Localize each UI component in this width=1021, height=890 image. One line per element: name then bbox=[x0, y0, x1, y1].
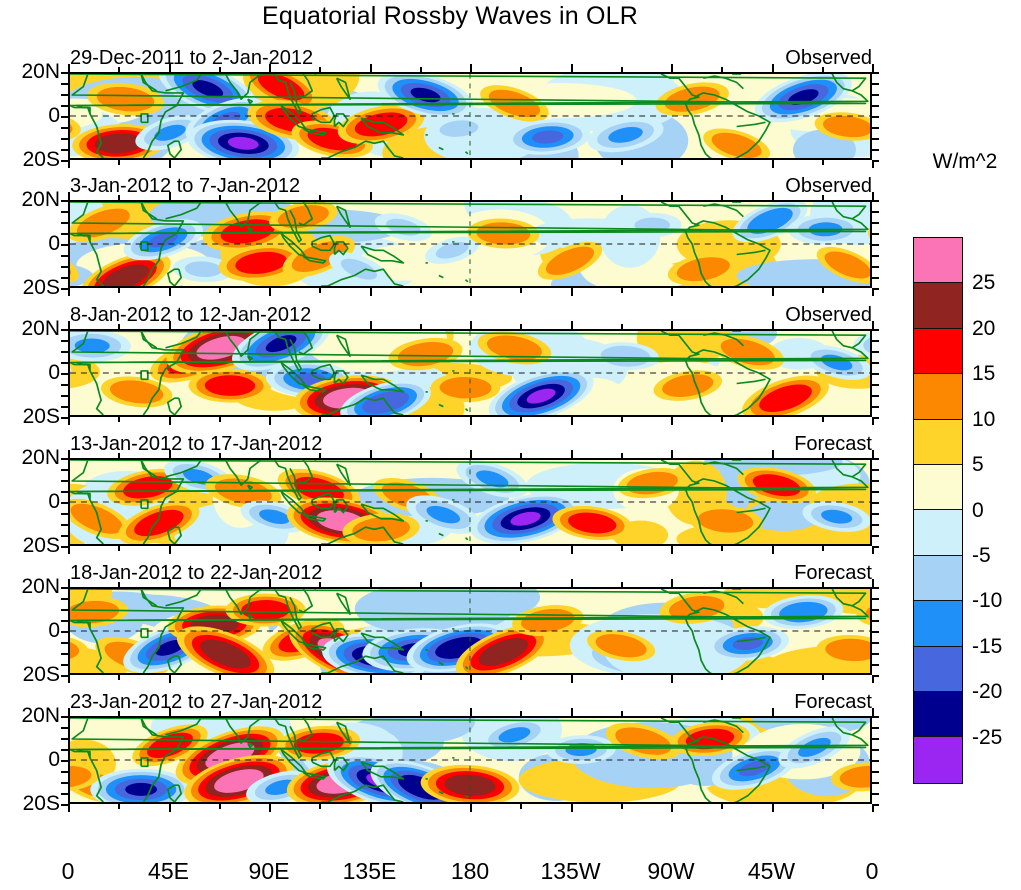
x-tick bbox=[520, 288, 522, 293]
x-tick bbox=[470, 288, 472, 296]
x-tick bbox=[772, 579, 774, 587]
x-tick bbox=[772, 321, 774, 329]
ylabel-eq: 0 bbox=[0, 620, 60, 641]
ylabel-eq: 0 bbox=[0, 362, 60, 383]
ylabel-20s: 20S bbox=[0, 793, 60, 814]
y-tick bbox=[61, 458, 68, 460]
x-tick bbox=[822, 324, 824, 329]
y-tick bbox=[872, 72, 879, 74]
x-tick bbox=[420, 804, 422, 809]
colorbar-tick-label: 10 bbox=[972, 408, 995, 432]
y-tick bbox=[872, 83, 879, 85]
x-tick bbox=[872, 804, 874, 812]
x-tick bbox=[420, 711, 422, 716]
x-tick bbox=[520, 324, 522, 329]
x-tick-label: 180 bbox=[430, 858, 510, 885]
ylabel-20n: 20N bbox=[0, 705, 60, 726]
x-tick bbox=[420, 582, 422, 587]
x-tick bbox=[721, 711, 723, 716]
y-tick bbox=[872, 277, 879, 279]
x-tick bbox=[470, 321, 472, 329]
y-tick bbox=[61, 138, 68, 140]
x-tick bbox=[169, 321, 171, 329]
x-tick-label: 0 bbox=[28, 858, 108, 885]
x-tick bbox=[772, 708, 774, 716]
x-tick bbox=[269, 417, 271, 425]
x-tick bbox=[671, 417, 673, 425]
y-tick bbox=[61, 244, 68, 246]
x-tick bbox=[219, 324, 221, 329]
x-tick bbox=[219, 711, 221, 716]
x-tick bbox=[370, 804, 372, 812]
ylabel-20s: 20S bbox=[0, 535, 60, 556]
x-tick bbox=[68, 417, 70, 425]
ylabel-eq: 0 bbox=[0, 749, 60, 770]
x-tick bbox=[370, 417, 372, 425]
x-tick bbox=[822, 195, 824, 200]
y-tick bbox=[61, 631, 68, 633]
x-tick bbox=[470, 417, 472, 425]
olr-map-panel bbox=[68, 458, 872, 546]
colorbar-band bbox=[914, 510, 962, 555]
x-tick bbox=[118, 804, 120, 809]
y-tick bbox=[872, 395, 879, 397]
y-tick bbox=[872, 406, 879, 408]
y-tick bbox=[61, 502, 68, 504]
x-tick bbox=[721, 453, 723, 458]
x-tick bbox=[671, 708, 673, 716]
x-tick bbox=[772, 160, 774, 168]
ylabel-20n: 20N bbox=[0, 318, 60, 339]
x-tick bbox=[621, 453, 623, 458]
ylabel-eq: 0 bbox=[0, 233, 60, 254]
x-tick bbox=[219, 453, 221, 458]
colorbar-tick-label: 5 bbox=[972, 453, 984, 477]
ylabel-20s: 20S bbox=[0, 277, 60, 298]
x-tick bbox=[721, 67, 723, 72]
y-tick bbox=[872, 244, 879, 246]
x-tick bbox=[721, 675, 723, 680]
y-tick bbox=[872, 138, 879, 140]
x-tick bbox=[118, 195, 120, 200]
y-tick bbox=[61, 793, 68, 795]
y-tick bbox=[61, 546, 68, 548]
x-tick bbox=[269, 160, 271, 168]
y-tick bbox=[872, 200, 879, 202]
x-tick bbox=[520, 160, 522, 165]
y-tick bbox=[61, 480, 68, 482]
map-plot-area bbox=[68, 329, 872, 417]
x-tick bbox=[319, 453, 321, 458]
x-tick bbox=[520, 453, 522, 458]
colorbar-band bbox=[914, 647, 962, 692]
x-tick bbox=[269, 192, 271, 200]
y-tick bbox=[61, 491, 68, 493]
x-tick bbox=[420, 546, 422, 551]
x-tick bbox=[169, 417, 171, 425]
x-tick bbox=[822, 675, 824, 680]
x-tick bbox=[219, 582, 221, 587]
colorbar-tick-label: -15 bbox=[972, 635, 1002, 659]
x-tick bbox=[470, 64, 472, 72]
x-tick bbox=[571, 321, 573, 329]
y-tick bbox=[61, 675, 68, 677]
x-tick bbox=[118, 288, 120, 293]
y-tick bbox=[872, 716, 879, 718]
x-tick bbox=[772, 64, 774, 72]
y-tick bbox=[61, 83, 68, 85]
y-tick bbox=[61, 716, 68, 718]
x-tick bbox=[420, 195, 422, 200]
y-tick bbox=[61, 351, 68, 353]
x-tick bbox=[520, 417, 522, 422]
x-tick-label: 45E bbox=[129, 858, 209, 885]
x-tick bbox=[269, 708, 271, 716]
x-tick bbox=[822, 417, 824, 422]
x-tick bbox=[571, 579, 573, 587]
colorbar-tick-label: -5 bbox=[972, 544, 991, 568]
y-tick bbox=[61, 760, 68, 762]
x-tick bbox=[872, 417, 874, 425]
x-tick bbox=[118, 67, 120, 72]
ylabel-20n: 20N bbox=[0, 189, 60, 210]
colorbar-tick-label: 25 bbox=[972, 271, 995, 295]
y-tick bbox=[61, 598, 68, 600]
x-tick bbox=[269, 288, 271, 296]
x-tick-label: 90E bbox=[229, 858, 309, 885]
y-tick bbox=[61, 255, 68, 257]
x-tick bbox=[269, 546, 271, 554]
colorbar-band bbox=[914, 692, 962, 737]
x-tick bbox=[671, 192, 673, 200]
x-tick bbox=[68, 546, 70, 554]
y-tick bbox=[61, 406, 68, 408]
x-tick bbox=[118, 160, 120, 165]
x-tick bbox=[169, 708, 171, 716]
x-tick bbox=[822, 546, 824, 551]
x-tick bbox=[721, 582, 723, 587]
x-tick bbox=[571, 675, 573, 683]
x-tick bbox=[68, 288, 70, 296]
x-tick bbox=[671, 321, 673, 329]
y-tick bbox=[872, 598, 879, 600]
x-tick bbox=[68, 675, 70, 683]
colorbar-tick-label: 0 bbox=[972, 499, 984, 523]
x-tick bbox=[822, 160, 824, 165]
x-tick bbox=[772, 675, 774, 683]
y-tick bbox=[872, 340, 879, 342]
y-tick bbox=[61, 362, 68, 364]
y-tick bbox=[61, 149, 68, 151]
x-tick bbox=[621, 804, 623, 809]
x-tick bbox=[269, 579, 271, 587]
x-tick bbox=[721, 195, 723, 200]
y-tick bbox=[61, 587, 68, 589]
x-tick-label: 0 bbox=[832, 858, 912, 885]
ylabel-eq: 0 bbox=[0, 491, 60, 512]
ylabel-20s: 20S bbox=[0, 406, 60, 427]
y-tick bbox=[872, 329, 879, 331]
x-tick bbox=[370, 288, 372, 296]
x-tick bbox=[470, 546, 472, 554]
x-tick bbox=[420, 324, 422, 329]
olr-map-panel bbox=[68, 200, 872, 288]
y-tick bbox=[61, 782, 68, 784]
x-tick bbox=[118, 324, 120, 329]
y-tick bbox=[61, 277, 68, 279]
y-tick bbox=[872, 513, 879, 515]
colorbar-band bbox=[914, 737, 962, 782]
x-tick bbox=[319, 582, 321, 587]
y-tick bbox=[61, 116, 68, 118]
y-tick bbox=[872, 609, 879, 611]
x-tick bbox=[370, 708, 372, 716]
x-tick bbox=[822, 288, 824, 293]
x-tick bbox=[370, 546, 372, 554]
x-tick bbox=[420, 160, 422, 165]
x-tick bbox=[219, 675, 221, 680]
x-tick bbox=[571, 417, 573, 425]
x-tick bbox=[520, 711, 522, 716]
colorbar-tick-label: -10 bbox=[972, 589, 1002, 613]
x-tick bbox=[219, 288, 221, 293]
y-tick bbox=[61, 222, 68, 224]
ylabel-20n: 20N bbox=[0, 576, 60, 597]
x-tick bbox=[772, 192, 774, 200]
x-tick bbox=[872, 579, 874, 587]
x-tick bbox=[370, 192, 372, 200]
y-tick bbox=[61, 513, 68, 515]
x-tick bbox=[319, 675, 321, 680]
x-tick bbox=[470, 192, 472, 200]
y-tick bbox=[61, 749, 68, 751]
y-tick bbox=[872, 535, 879, 537]
x-tick bbox=[169, 450, 171, 458]
y-tick bbox=[872, 642, 879, 644]
y-tick bbox=[61, 664, 68, 666]
x-tick bbox=[671, 450, 673, 458]
x-tick bbox=[671, 160, 673, 168]
x-tick bbox=[420, 675, 422, 680]
x-tick bbox=[772, 546, 774, 554]
y-tick bbox=[61, 738, 68, 740]
y-tick bbox=[61, 727, 68, 729]
x-tick bbox=[68, 321, 70, 329]
x-tick bbox=[118, 546, 120, 551]
x-tick bbox=[370, 450, 372, 458]
x-tick bbox=[571, 708, 573, 716]
x-tick bbox=[370, 160, 372, 168]
x-tick bbox=[671, 675, 673, 683]
y-tick bbox=[61, 653, 68, 655]
x-tick bbox=[671, 546, 673, 554]
ylabel-eq: 0 bbox=[0, 105, 60, 126]
y-tick bbox=[61, 620, 68, 622]
ylabel-20n: 20N bbox=[0, 61, 60, 82]
y-tick bbox=[872, 524, 879, 526]
x-tick bbox=[721, 417, 723, 422]
x-tick bbox=[118, 453, 120, 458]
x-tick bbox=[772, 450, 774, 458]
colorbar-band bbox=[914, 374, 962, 419]
x-tick bbox=[219, 195, 221, 200]
x-tick bbox=[169, 579, 171, 587]
x-tick bbox=[420, 453, 422, 458]
x-tick bbox=[169, 160, 171, 168]
y-tick bbox=[872, 793, 879, 795]
y-tick bbox=[872, 771, 879, 773]
olr-map-panel bbox=[68, 587, 872, 675]
colorbar-band bbox=[914, 283, 962, 328]
x-tick bbox=[822, 711, 824, 716]
x-tick bbox=[118, 675, 120, 680]
y-tick bbox=[872, 469, 879, 471]
x-tick bbox=[319, 804, 321, 809]
colorbar-units-label: W/m^2 bbox=[905, 150, 1021, 174]
x-tick bbox=[118, 711, 120, 716]
x-tick bbox=[118, 417, 120, 422]
y-tick bbox=[61, 384, 68, 386]
x-tick bbox=[169, 804, 171, 812]
y-tick bbox=[872, 653, 879, 655]
y-tick bbox=[872, 255, 879, 257]
x-tick bbox=[470, 450, 472, 458]
x-tick bbox=[621, 675, 623, 680]
x-tick bbox=[470, 160, 472, 168]
x-tick bbox=[319, 160, 321, 165]
y-tick bbox=[872, 620, 879, 622]
map-plot-area bbox=[68, 716, 872, 804]
y-tick bbox=[872, 149, 879, 151]
x-tick bbox=[219, 417, 221, 422]
x-tick bbox=[721, 804, 723, 809]
x-tick bbox=[772, 417, 774, 425]
colorbar-band bbox=[914, 556, 962, 601]
y-tick bbox=[61, 417, 68, 419]
x-tick bbox=[872, 708, 874, 716]
x-tick bbox=[319, 288, 321, 293]
page-title: Equatorial Rossby Waves in OLR bbox=[0, 2, 900, 31]
x-tick bbox=[520, 195, 522, 200]
x-tick bbox=[571, 288, 573, 296]
x-tick bbox=[571, 450, 573, 458]
x-tick bbox=[269, 321, 271, 329]
x-tick bbox=[621, 546, 623, 551]
x-tick bbox=[319, 324, 321, 329]
x-tick bbox=[470, 579, 472, 587]
y-tick bbox=[872, 502, 879, 504]
y-tick bbox=[872, 94, 879, 96]
x-tick-label: 135W bbox=[531, 858, 611, 885]
y-tick bbox=[872, 491, 879, 493]
x-tick bbox=[370, 64, 372, 72]
colorbar-band bbox=[914, 420, 962, 465]
x-tick bbox=[118, 582, 120, 587]
y-tick bbox=[61, 266, 68, 268]
x-tick bbox=[621, 195, 623, 200]
x-tick bbox=[219, 160, 221, 165]
x-tick bbox=[721, 160, 723, 165]
y-tick bbox=[61, 72, 68, 74]
x-tick-label: 90W bbox=[631, 858, 711, 885]
y-tick bbox=[61, 160, 68, 162]
y-tick bbox=[872, 127, 879, 129]
x-tick bbox=[822, 453, 824, 458]
x-tick bbox=[872, 546, 874, 554]
x-tick bbox=[822, 582, 824, 587]
x-tick bbox=[319, 711, 321, 716]
y-tick bbox=[61, 535, 68, 537]
x-tick bbox=[169, 192, 171, 200]
x-tick bbox=[571, 160, 573, 168]
y-tick bbox=[61, 288, 68, 290]
x-tick bbox=[621, 67, 623, 72]
ylabel-20s: 20S bbox=[0, 149, 60, 170]
x-tick bbox=[872, 160, 874, 168]
x-tick bbox=[420, 288, 422, 293]
colorbar-tick-label: -25 bbox=[972, 726, 1002, 750]
x-tick bbox=[520, 675, 522, 680]
x-tick bbox=[319, 546, 321, 551]
x-tick bbox=[68, 450, 70, 458]
y-tick bbox=[61, 524, 68, 526]
y-tick bbox=[872, 749, 879, 751]
x-tick bbox=[621, 582, 623, 587]
x-tick bbox=[319, 195, 321, 200]
y-tick bbox=[872, 727, 879, 729]
x-tick bbox=[822, 804, 824, 809]
y-tick bbox=[61, 373, 68, 375]
colorbar-tick-label: 15 bbox=[972, 362, 995, 386]
y-tick bbox=[872, 384, 879, 386]
x-tick bbox=[219, 804, 221, 809]
x-tick-label: 45W bbox=[732, 858, 812, 885]
x-tick bbox=[68, 64, 70, 72]
olr-map-panel bbox=[68, 72, 872, 160]
y-tick bbox=[61, 127, 68, 129]
x-tick bbox=[872, 450, 874, 458]
colorbar-band bbox=[914, 238, 962, 283]
x-tick bbox=[370, 675, 372, 683]
y-tick bbox=[872, 233, 879, 235]
y-tick bbox=[872, 458, 879, 460]
x-tick bbox=[68, 804, 70, 812]
y-tick bbox=[872, 211, 879, 213]
y-tick bbox=[61, 771, 68, 773]
figure-root: Equatorial Rossby Waves in OLR 29-Dec-20… bbox=[0, 0, 1021, 890]
colorbar-tick-label: 20 bbox=[972, 317, 995, 341]
y-tick bbox=[61, 340, 68, 342]
y-tick bbox=[872, 664, 879, 666]
x-tick bbox=[319, 417, 321, 422]
colorbar bbox=[913, 237, 963, 784]
y-tick bbox=[872, 738, 879, 740]
x-tick bbox=[470, 804, 472, 812]
x-tick bbox=[169, 288, 171, 296]
y-tick bbox=[61, 395, 68, 397]
x-tick bbox=[671, 579, 673, 587]
colorbar-band bbox=[914, 329, 962, 374]
x-tick bbox=[219, 67, 221, 72]
x-tick bbox=[671, 288, 673, 296]
map-plot-area bbox=[68, 587, 872, 675]
x-tick bbox=[721, 546, 723, 551]
x-tick bbox=[872, 288, 874, 296]
x-tick bbox=[671, 804, 673, 812]
x-tick bbox=[169, 64, 171, 72]
x-tick bbox=[520, 67, 522, 72]
x-tick bbox=[169, 675, 171, 683]
